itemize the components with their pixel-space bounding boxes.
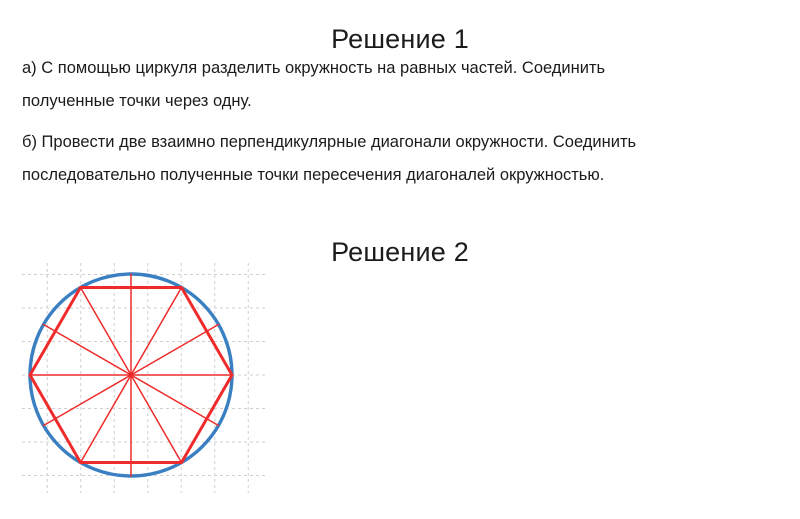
radius-line: [131, 325, 218, 376]
radius-line: [131, 375, 182, 462]
geometry-figure: [22, 263, 268, 493]
hexagon-in-circle-diagram: [22, 263, 268, 493]
radius-line: [131, 288, 182, 375]
paragraph-item-b-line-2: последовательно полученные точки пересеч…: [22, 159, 778, 192]
paragraph-item-a-line-2: полученные точки через одну.: [22, 85, 778, 118]
paragraph-item-b: б) Провести две взаимно перпендикулярные…: [22, 126, 778, 192]
paragraph-item-b-line-1: б) Провести две взаимно перпендикулярные…: [22, 126, 778, 159]
radius-line: [44, 325, 131, 376]
radius-line: [81, 288, 132, 375]
paragraph-item-a: а) С помощью циркуля разделить окружност…: [22, 52, 778, 118]
paragraph-item-a-line-1: а) С помощью циркуля разделить окружност…: [22, 52, 778, 85]
radius-line: [81, 375, 132, 462]
page-title-solution-1: Решение 1: [0, 24, 800, 55]
document-page: Решение 1 а) С помощью циркуля разделить…: [0, 0, 800, 519]
radius-line: [44, 375, 131, 426]
radius-line: [131, 375, 218, 426]
